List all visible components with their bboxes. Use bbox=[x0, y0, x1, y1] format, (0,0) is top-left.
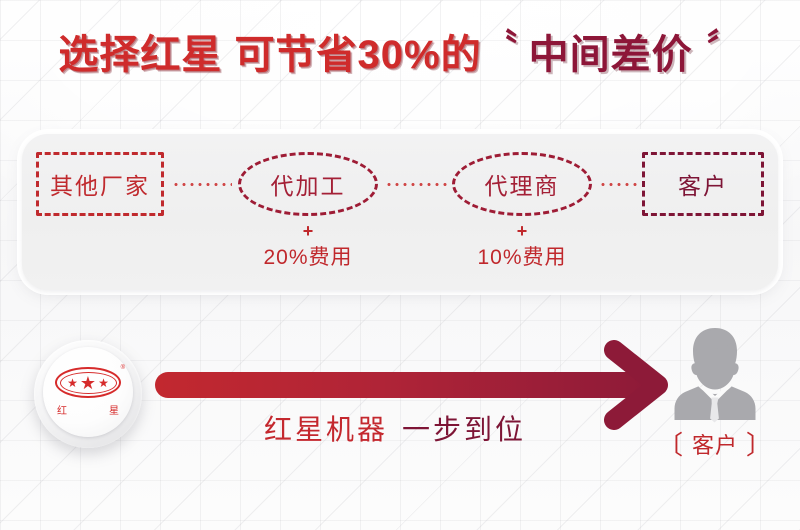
registered-trademark-icon: ® bbox=[121, 365, 125, 371]
chain-node-other-factory: 其他厂家 bbox=[36, 152, 164, 216]
quote-close-icon: 〞 bbox=[707, 28, 742, 66]
chain-connector-0 bbox=[172, 183, 232, 186]
chain-node-agent: 代理商 bbox=[452, 152, 592, 216]
headline-segment-a: 选择红星 可节省30%的 bbox=[58, 33, 481, 77]
star-icon: ★ bbox=[80, 374, 96, 392]
brand-char-right: 星 bbox=[109, 402, 119, 417]
chain-connector-1 bbox=[385, 183, 447, 186]
brand-badge-inner: ★ ★ ★ ® 红 星 bbox=[43, 347, 133, 437]
chain-node-label: 代加工 bbox=[271, 167, 346, 201]
chain-node-label: 代理商 bbox=[485, 167, 560, 201]
fee-markup-agent: + 10%费用 bbox=[452, 222, 592, 268]
tagline-brand: 红星机器 bbox=[264, 414, 388, 445]
customer-label-text: 客户 bbox=[692, 433, 738, 458]
brand-char-left: 红 bbox=[57, 402, 67, 417]
tagline: 红星机器一步到位 bbox=[155, 408, 635, 448]
bracket-right-icon: 〕 bbox=[746, 430, 773, 460]
direct-arrow-shaft bbox=[155, 372, 655, 398]
fee-amount: 10%费用 bbox=[452, 247, 592, 268]
supply-chain-panel: 其他厂家 代加工 代理商 客户 + 20%费用 + 10%费用 bbox=[22, 134, 778, 290]
star-icon: ★ bbox=[67, 377, 78, 389]
poster-canvas: 选择红星 可节省30%的〝中间差价〞 其他厂家 代加工 代理商 客户 + 20%… bbox=[0, 0, 800, 530]
fee-plus-sign: + bbox=[452, 222, 592, 240]
fee-plus-sign: + bbox=[238, 222, 378, 240]
headline-highlight: 中间差价 bbox=[529, 33, 693, 77]
headline: 选择红星 可节省30%的〝中间差价〞 bbox=[0, 28, 800, 84]
chain-node-customer: 客户 bbox=[642, 152, 764, 216]
customer-avatar-icon bbox=[663, 322, 767, 426]
chain-node-label: 其他厂家 bbox=[50, 167, 150, 201]
brand-badge: ★ ★ ★ ® 红 星 bbox=[34, 340, 142, 448]
chain-node-label: 客户 bbox=[678, 167, 728, 201]
chain-connector-2 bbox=[599, 183, 637, 186]
quote-open-icon: 〝 bbox=[484, 28, 519, 66]
chain-node-oem-processing: 代加工 bbox=[238, 152, 378, 216]
brand-name: 红 星 bbox=[57, 402, 119, 417]
hongxing-logo-icon: ★ ★ ★ ® bbox=[55, 367, 121, 398]
supply-chain-flow: 其他厂家 代加工 代理商 客户 + 20%费用 + 10%费用 bbox=[22, 134, 778, 290]
customer-label: 〔客户〕 bbox=[648, 424, 782, 461]
fee-markup-oem: + 20%费用 bbox=[238, 222, 378, 268]
star-icon: ★ bbox=[98, 377, 109, 389]
bracket-left-icon: 〔 bbox=[657, 430, 684, 460]
fee-amount: 20%费用 bbox=[238, 247, 378, 268]
tagline-slogan: 一步到位 bbox=[402, 414, 526, 445]
